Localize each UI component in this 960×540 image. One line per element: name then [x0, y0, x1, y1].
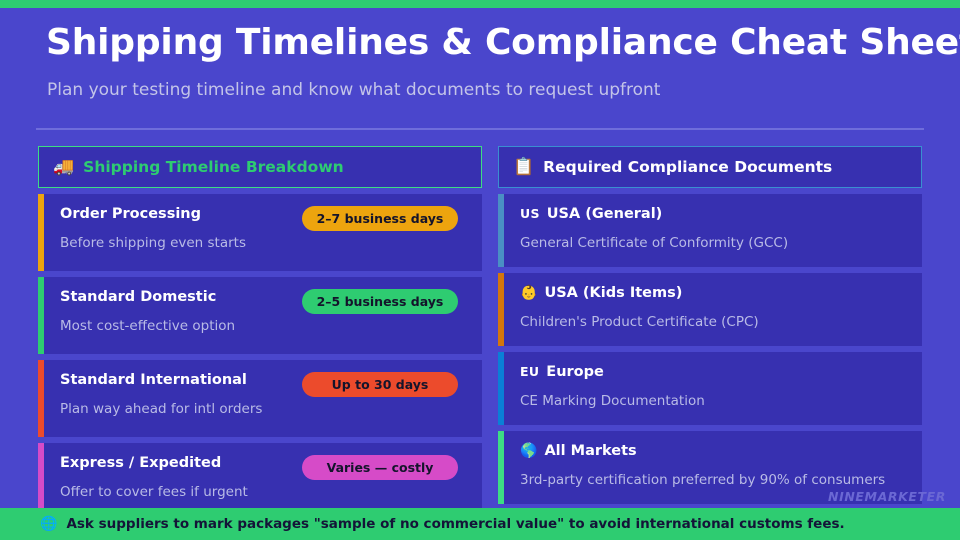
timeline-duration-badge: 2–5 business days: [302, 289, 458, 314]
shipping-timeline-panel-title: Shipping Timeline Breakdown: [83, 158, 344, 176]
compliance-card-subtitle: Children's Product Certificate (CPC): [520, 312, 908, 332]
baby-face-icon: 👶: [520, 286, 537, 300]
globe-americas-icon: 🌎: [520, 444, 537, 458]
top-accent-bar: [0, 0, 960, 8]
shipping-timeline-panel: 🚚 Shipping Timeline Breakdown Order Proc…: [38, 146, 482, 526]
timeline-card[interactable]: Order Processing Before shipping even st…: [38, 194, 482, 271]
footer-tip-banner: 🌐 Ask suppliers to mark packages "sample…: [0, 508, 960, 540]
card-accent-bar: [498, 273, 504, 346]
compliance-documents-panel-title: Required Compliance Documents: [543, 158, 832, 176]
timeline-duration-badge: 2–7 business days: [302, 206, 458, 231]
card-accent-bar: [498, 194, 504, 267]
compliance-card-title-row: US USA (General): [520, 204, 908, 224]
delivery-truck-icon: 🚚: [53, 159, 74, 176]
compliance-documents-panel-header: 📋 Required Compliance Documents: [498, 146, 922, 188]
compliance-documents-panel: 📋 Required Compliance Documents US USA (…: [498, 146, 922, 510]
card-accent-bar: [38, 194, 44, 271]
timeline-card-subtitle: Most cost-effective option: [60, 316, 468, 336]
watermark: NINEMARKETER: [828, 489, 946, 504]
slide-canvas: Shipping Timelines & Compliance Cheat Sh…: [0, 0, 960, 540]
compliance-card[interactable]: 👶 USA (Kids Items) Children's Product Ce…: [498, 273, 922, 346]
compliance-card-subtitle: General Certificate of Conformity (GCC): [520, 233, 908, 253]
timeline-card[interactable]: Standard Domestic Most cost-effective op…: [38, 277, 482, 354]
compliance-card-title: All Markets: [544, 441, 636, 461]
compliance-card-subtitle: CE Marking Documentation: [520, 391, 908, 411]
card-accent-bar: [498, 352, 504, 425]
compliance-card-title: Europe: [546, 362, 604, 382]
page-title: Shipping Timelines & Compliance Cheat Sh…: [46, 20, 926, 66]
compliance-card-title-row: 👶 USA (Kids Items): [520, 283, 908, 303]
timeline-card[interactable]: Standard International Plan way ahead fo…: [38, 360, 482, 437]
page-subtitle: Plan your testing timeline and know what…: [47, 79, 927, 101]
compliance-card-title-row: 🌎 All Markets: [520, 441, 908, 461]
timeline-card-subtitle: Offer to cover fees if urgent: [60, 482, 468, 502]
compliance-card[interactable]: US USA (General) General Certificate of …: [498, 194, 922, 267]
clipboard-icon: 📋: [513, 159, 534, 176]
compliance-card[interactable]: EU Europe CE Marking Documentation: [498, 352, 922, 425]
card-accent-bar: [498, 431, 504, 504]
flag-us-icon: US: [520, 204, 540, 224]
flag-eu-icon: EU: [520, 362, 539, 382]
timeline-duration-badge: Up to 30 days: [302, 372, 458, 397]
footer-tip-text: Ask suppliers to mark packages "sample o…: [66, 516, 844, 532]
timeline-duration-badge: Varies — costly: [302, 455, 458, 480]
compliance-card-title-row: EU Europe: [520, 362, 908, 382]
compliance-card-title: USA (Kids Items): [544, 283, 682, 303]
compliance-card-title: USA (General): [547, 204, 663, 224]
card-accent-bar: [38, 360, 44, 437]
globe-meridians-icon: 🌐: [40, 517, 57, 531]
shipping-timeline-panel-header: 🚚 Shipping Timeline Breakdown: [38, 146, 482, 188]
card-accent-bar: [38, 277, 44, 354]
timeline-card-subtitle: Plan way ahead for intl orders: [60, 399, 468, 419]
compliance-card-subtitle: 3rd-party certification preferred by 90%…: [520, 470, 908, 490]
header-divider: [36, 128, 924, 130]
timeline-card-subtitle: Before shipping even starts: [60, 233, 468, 253]
